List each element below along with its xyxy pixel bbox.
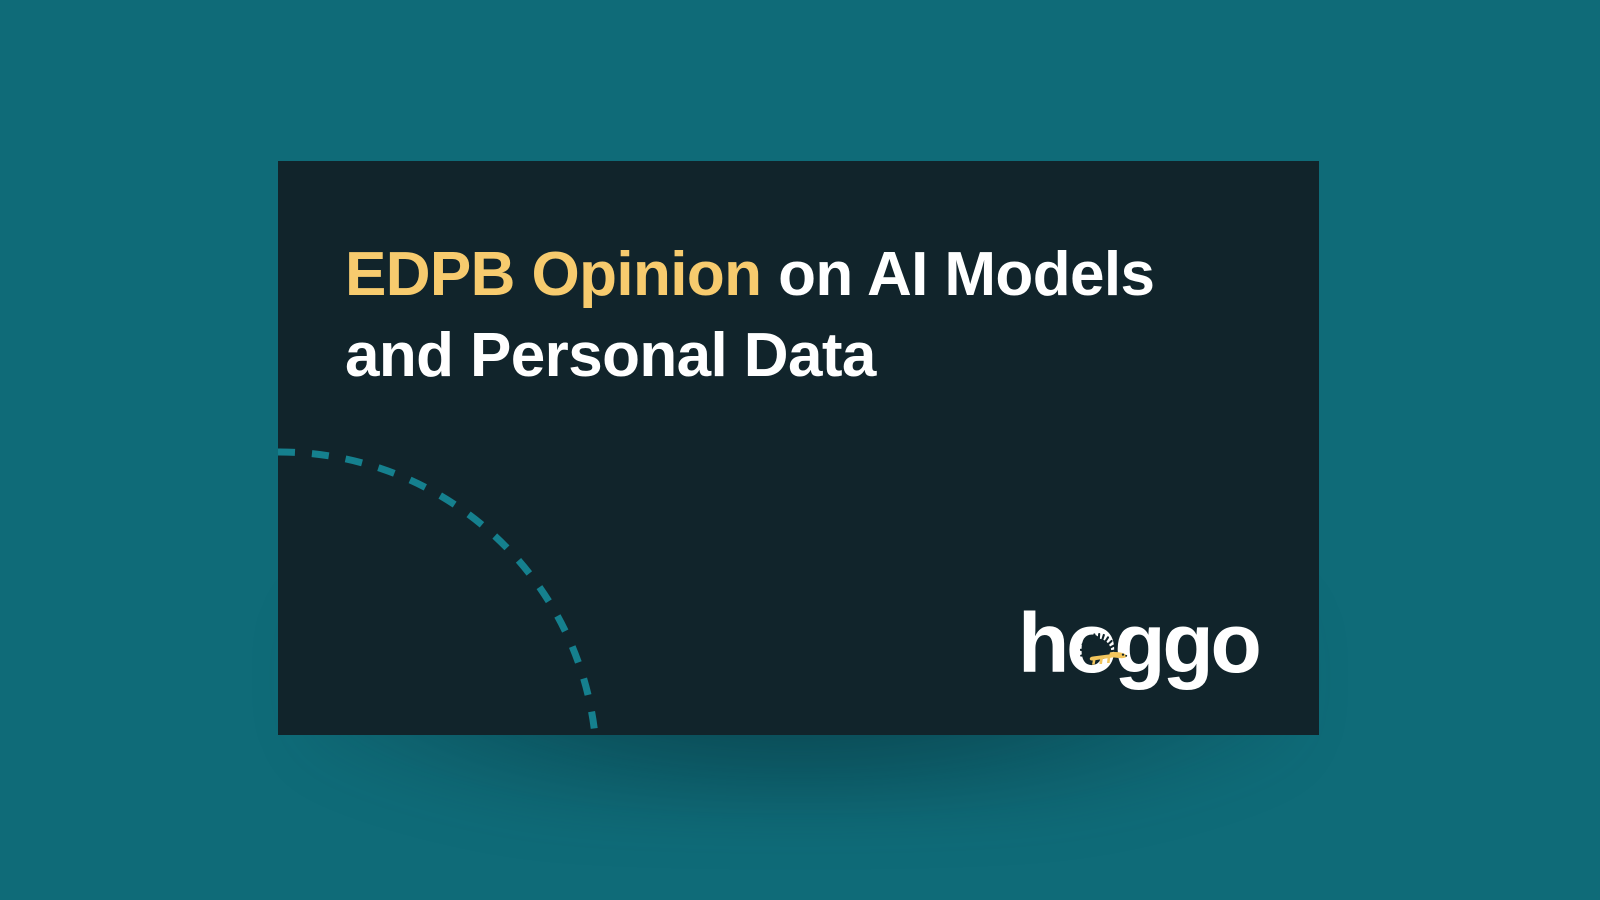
page-title-accent: EDPB Opinion <box>345 240 761 309</box>
slide-canvas: EDPB Opinion on AI Models and Personal D… <box>0 0 1600 900</box>
page-title: EDPB Opinion on AI Models and Personal D… <box>345 235 1225 396</box>
title-card: EDPB Opinion on AI Models and Personal D… <box>278 161 1319 735</box>
brand-logo: hoggo <box>1018 604 1230 682</box>
hedgehog-mascot-icon <box>1080 632 1128 666</box>
brand-wordmark: hoggo <box>1018 604 1259 682</box>
